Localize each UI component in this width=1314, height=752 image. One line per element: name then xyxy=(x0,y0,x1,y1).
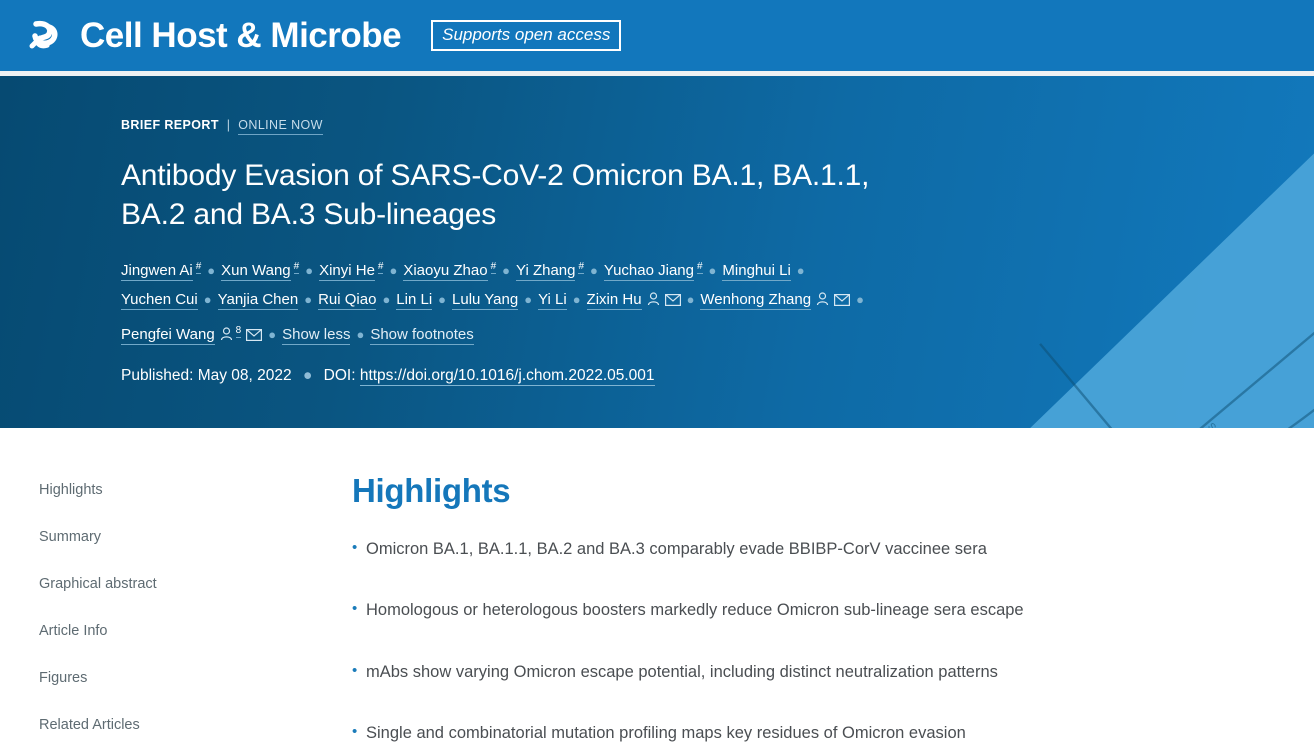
author-separator-dot: ● xyxy=(438,292,446,307)
author-profile-icon[interactable] xyxy=(647,287,660,316)
author-profile-icon[interactable] xyxy=(816,287,829,316)
author-name[interactable]: Yuchao Jiang xyxy=(604,262,694,281)
article-title: Antibody Evasion of SARS-CoV-2 Omicron B… xyxy=(121,156,881,234)
author-name[interactable]: Xinyi He xyxy=(319,262,375,281)
author-name[interactable]: Xun Wang xyxy=(221,262,291,281)
author-name[interactable]: Xiaoyu Zhao xyxy=(403,262,487,281)
author-list: Jingwen Ai#●Xun Wang#●Xinyi He#●Xiaoyu Z… xyxy=(121,252,911,351)
author-name[interactable]: Pengfei Wang xyxy=(121,326,215,345)
author-email-icon[interactable] xyxy=(665,287,681,316)
author-entry: Rui Qiao xyxy=(318,291,376,310)
highlight-bullet: Homologous or heterologous boosters mark… xyxy=(352,599,1274,621)
author-entry: Jingwen Ai# xyxy=(121,262,201,279)
author-entry: Lin Li xyxy=(396,291,432,310)
sidebar-item-highlights[interactable]: Highlights xyxy=(39,480,159,500)
show-less-link[interactable]: Show less xyxy=(282,326,350,345)
author-separator-dot: ● xyxy=(573,292,581,307)
svg-text:sublineages: sublineages xyxy=(1203,420,1259,428)
author-name[interactable]: Yi Li xyxy=(538,291,567,310)
author-affiliation-marker[interactable]: # xyxy=(378,261,384,274)
open-access-badge: Supports open access xyxy=(431,20,621,51)
author-entry: Xiaoyu Zhao# xyxy=(403,262,496,279)
sidebar-item-graphical-abstract[interactable]: Graphical abstract xyxy=(39,574,159,594)
author-separator-dot: ● xyxy=(856,292,864,307)
author-name[interactable]: Yuchen Cui xyxy=(121,291,198,310)
author-affiliation-marker[interactable]: # xyxy=(491,261,497,274)
show-footnotes-link[interactable]: Show footnotes xyxy=(370,326,473,345)
doi-label: DOI: xyxy=(324,367,356,384)
author-separator-dot: ● xyxy=(590,263,598,278)
author-entry: Pengfei Wang8 xyxy=(121,326,262,343)
author-name[interactable]: Lin Li xyxy=(396,291,432,310)
publication-info-line: Published: May 08, 2022 ● DOI: https://d… xyxy=(121,367,1314,385)
author-name[interactable]: Yi Zhang xyxy=(516,262,575,281)
author-separator-dot: ● xyxy=(524,292,532,307)
article-section-nav: Highlights Summary Graphical abstract Ar… xyxy=(0,428,320,752)
author-entry: Minghui Li xyxy=(722,262,790,281)
doi-link[interactable]: https://doi.org/10.1016/j.chom.2022.05.0… xyxy=(360,367,655,386)
highlights-heading: Highlights xyxy=(352,472,1274,510)
author-separator-dot: ● xyxy=(356,327,364,342)
highlight-bullet: Omicron BA.1, BA.1.1, BA.2 and BA.3 comp… xyxy=(352,538,1274,560)
article-body: Highlights Summary Graphical abstract Ar… xyxy=(0,428,1314,752)
author-entry: Lulu Yang xyxy=(452,291,518,310)
author-name[interactable]: Zixin Hu xyxy=(587,291,642,310)
highlight-bullet: Single and combinatorial mutation profil… xyxy=(352,722,1274,744)
author-separator-dot: ● xyxy=(797,263,805,278)
author-affiliation-marker[interactable]: # xyxy=(196,261,202,274)
author-name[interactable]: Wenhong Zhang xyxy=(700,291,811,310)
author-email-icon[interactable] xyxy=(834,287,850,316)
author-email-icon[interactable] xyxy=(246,322,262,351)
sidebar-item-related-articles[interactable]: Related Articles xyxy=(39,715,159,735)
author-separator-dot: ● xyxy=(305,263,313,278)
author-entry: Yi Zhang# xyxy=(516,262,584,279)
author-name[interactable]: Lulu Yang xyxy=(452,291,518,310)
highlights-section: Highlights Omicron BA.1, BA.1.1, BA.2 an… xyxy=(320,428,1314,752)
journal-title[interactable]: Cell Host & Microbe xyxy=(80,16,401,56)
highlight-bullet: mAbs show varying Omicron escape potenti… xyxy=(352,661,1274,683)
pub-separator-dot: ● xyxy=(303,367,312,384)
article-hero-banner: Dis Omicron sublineages BRIEF REPORT | O… xyxy=(0,76,1314,428)
author-affiliation-marker[interactable]: # xyxy=(697,261,703,274)
published-label: Published: xyxy=(121,367,193,384)
author-name[interactable]: Yanjia Chen xyxy=(218,291,299,310)
author-entry: Yuchao Jiang# xyxy=(604,262,703,279)
author-profile-icon[interactable] xyxy=(220,322,233,351)
sidebar-item-article-info[interactable]: Article Info xyxy=(39,621,159,641)
author-affiliation-marker[interactable]: # xyxy=(578,261,584,274)
author-entry: Yanjia Chen xyxy=(218,291,299,310)
author-separator-dot: ● xyxy=(204,292,212,307)
author-separator-dot: ● xyxy=(304,292,312,307)
author-entry: Yuchen Cui xyxy=(121,291,198,310)
cell-press-logo-icon[interactable] xyxy=(22,14,66,58)
article-kicker: BRIEF REPORT | ONLINE NOW xyxy=(121,118,1314,132)
sidebar-item-figures[interactable]: Figures xyxy=(39,668,159,688)
author-separator-dot: ● xyxy=(709,263,717,278)
journal-header-bar: Cell Host & Microbe Supports open access xyxy=(0,0,1314,71)
author-entry: Xun Wang# xyxy=(221,262,299,279)
author-separator-dot: ● xyxy=(389,263,397,278)
author-separator-dot: ● xyxy=(502,263,510,278)
author-entry: Wenhong Zhang xyxy=(700,291,850,308)
author-name[interactable]: Jingwen Ai xyxy=(121,262,193,281)
author-name[interactable]: Minghui Li xyxy=(722,262,790,281)
kicker-separator: | xyxy=(227,118,231,132)
author-name[interactable]: Rui Qiao xyxy=(318,291,376,310)
author-affiliation-marker[interactable]: 8 xyxy=(236,325,242,338)
author-separator-dot: ● xyxy=(268,327,276,342)
author-entry: Xinyi He# xyxy=(319,262,383,279)
author-separator-dot: ● xyxy=(207,263,215,278)
author-affiliation-marker[interactable]: # xyxy=(294,261,300,274)
article-type-label: BRIEF REPORT xyxy=(121,118,219,132)
sidebar-item-summary[interactable]: Summary xyxy=(39,527,159,547)
author-entry: Yi Li xyxy=(538,291,567,310)
published-date: May 08, 2022 xyxy=(198,367,292,384)
author-separator-dot: ● xyxy=(687,292,695,307)
author-entry: Zixin Hu xyxy=(587,291,681,308)
article-status-label[interactable]: ONLINE NOW xyxy=(238,118,323,135)
author-separator-dot: ● xyxy=(382,292,390,307)
